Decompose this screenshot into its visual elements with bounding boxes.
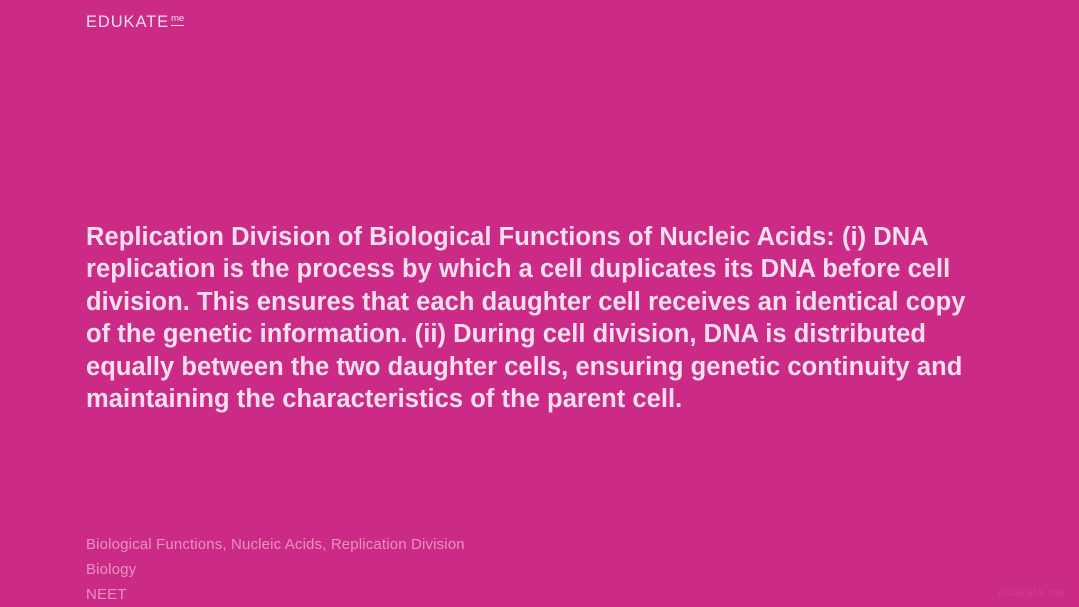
brand-logo[interactable]: EDUKATE me [86, 14, 184, 31]
slide-canvas: EDUKATE me Replication Division of Biolo… [0, 0, 1079, 607]
slide-body-text: Replication Division of Biological Funct… [86, 221, 978, 415]
corner-watermark: edukate.me [998, 585, 1065, 599]
brand-name: EDUKATE [86, 14, 169, 31]
footer-tags: Biological Functions, Nucleic Acids, Rep… [86, 532, 465, 557]
footer-meta: Biological Functions, Nucleic Acids, Rep… [86, 532, 465, 607]
footer-exam: NEET [86, 582, 465, 607]
brand-suffix: me [171, 14, 184, 26]
footer-subject: Biology [86, 557, 465, 582]
